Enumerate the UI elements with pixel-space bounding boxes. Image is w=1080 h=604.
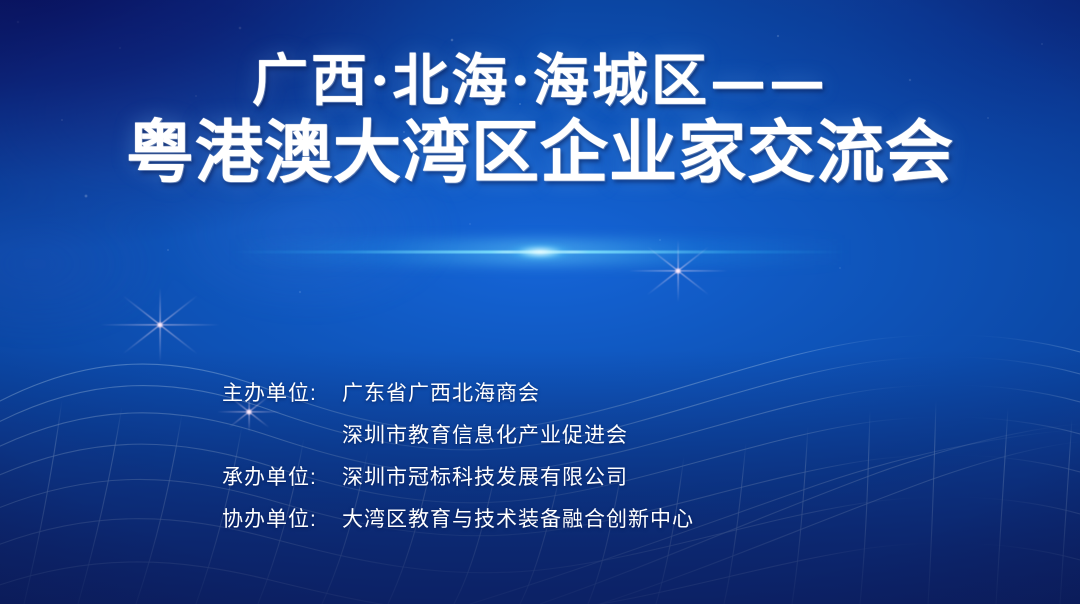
organizer-label-coorganizer: 协办单位: <box>222 509 342 530</box>
organizer-row-undertaker: 承办单位: 深圳市冠标科技发展有限公司 <box>222 467 694 488</box>
title-line-1: 广西·北海·海城区—— <box>0 52 1080 111</box>
title-line-2: 粤港澳大湾区企业家交流会 <box>0 117 1080 189</box>
organizer-value-host: 广东省广西北海商会 <box>342 383 540 404</box>
organizer-row-host-second: 主办单位: 深圳市教育信息化产业促进会 <box>222 425 694 446</box>
organizer-value-host-second: 深圳市教育信息化产业促进会 <box>342 425 628 446</box>
organizer-label-host: 主办单位: <box>222 383 342 404</box>
organizer-row-coorganizer: 协办单位: 大湾区教育与技术装备融合创新中心 <box>222 509 694 530</box>
event-poster: 广西·北海·海城区—— 粤港澳大湾区企业家交流会 主办单位: 广东省广西北海商会… <box>0 0 1080 604</box>
poster-title: 广西·北海·海城区—— 粤港澳大湾区企业家交流会 <box>0 52 1080 189</box>
organizer-label-undertaker: 承办单位: <box>222 467 342 488</box>
organizer-list: 主办单位: 广东省广西北海商会 主办单位: 深圳市教育信息化产业促进会 承办单位… <box>222 383 694 551</box>
organizer-value-coorganizer: 大湾区教育与技术装备融合创新中心 <box>342 509 694 530</box>
organizer-row-host: 主办单位: 广东省广西北海商会 <box>222 383 694 404</box>
organizer-value-undertaker: 深圳市冠标科技发展有限公司 <box>342 467 628 488</box>
